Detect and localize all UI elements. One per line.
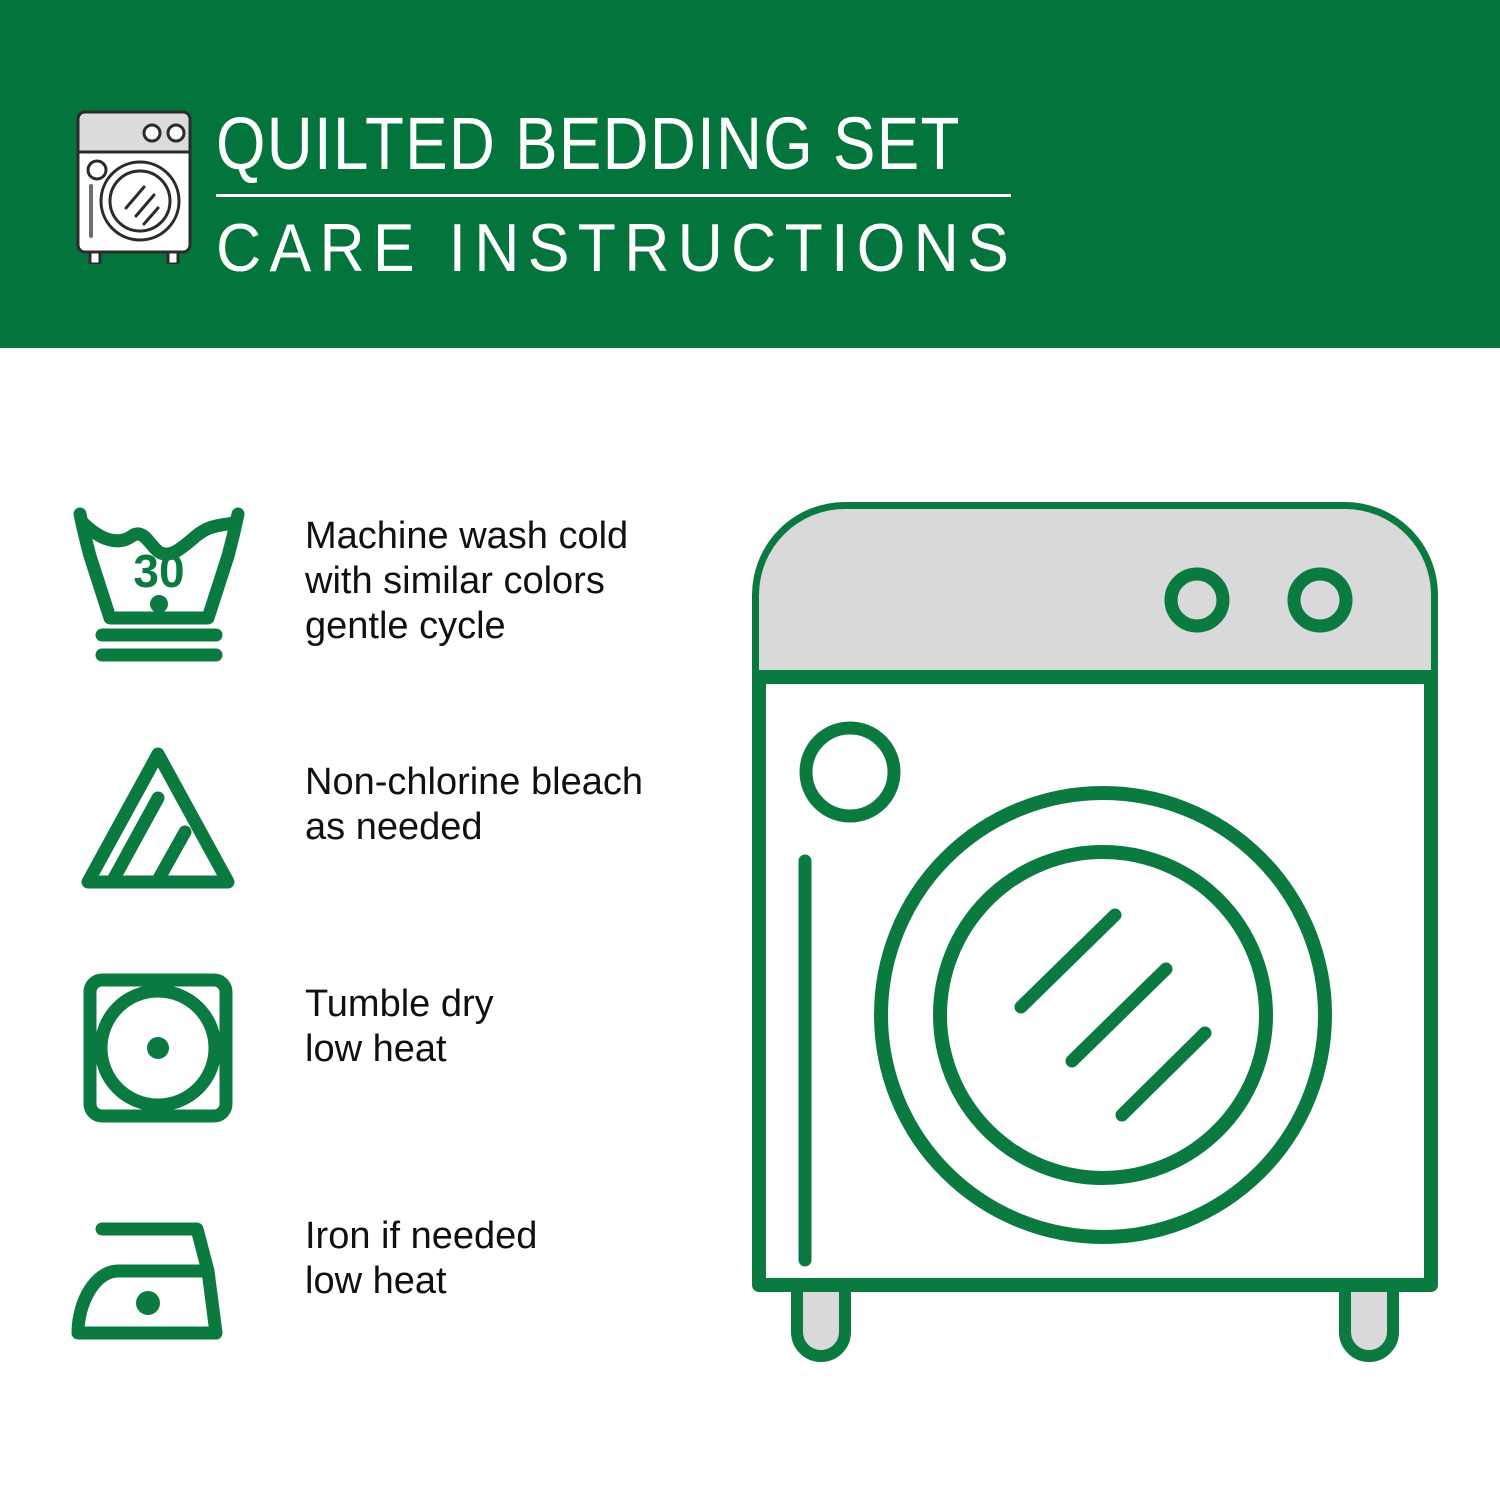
wash-temperature-label: 30 xyxy=(133,545,184,597)
care-text-wash: Machine wash cold with similar colors ge… xyxy=(305,514,628,649)
non-chlorine-bleach-triangle-icon xyxy=(68,740,253,905)
tumble-dry-low-icon xyxy=(78,968,238,1128)
machine-knob-right xyxy=(1294,574,1346,626)
care-instructions-page: QUILTED BEDDING SET CARE INSTRUCTIONS xyxy=(0,0,1500,1500)
page-subtitle: CARE INSTRUCTIONS xyxy=(216,211,952,285)
iron-low-heat-icon xyxy=(62,1215,252,1355)
care-instruction-list: 30 Machine wash cold with similar colors… xyxy=(0,500,720,1420)
care-text-tumble-dry: Tumble dry low heat xyxy=(305,982,494,1072)
page-title: QUILTED BEDDING SET xyxy=(216,104,904,184)
machine-indicator-light xyxy=(806,728,894,816)
header-title-group: QUILTED BEDDING SET CARE INSTRUCTIONS xyxy=(216,104,1016,285)
care-row-tumble-dry: Tumble dry low heat xyxy=(0,960,720,1190)
care-text-bleach: Non-chlorine bleach as needed xyxy=(305,760,643,850)
care-text-iron: Iron if needed low heat xyxy=(305,1214,537,1304)
machine-door-inner xyxy=(940,852,1266,1178)
machine-knob-left xyxy=(1171,574,1223,626)
washing-machine-icon xyxy=(64,104,214,264)
header-banner: QUILTED BEDDING SET CARE INSTRUCTIONS xyxy=(0,0,1500,348)
wash-tub-30-icon: 30 xyxy=(70,500,255,665)
care-row-wash: 30 Machine wash cold with similar colors… xyxy=(0,500,720,730)
care-row-bleach: Non-chlorine bleach as needed xyxy=(0,730,720,960)
front-load-washing-machine-illustration xyxy=(745,495,1445,1415)
care-row-iron: Iron if needed low heat xyxy=(0,1190,720,1420)
title-divider xyxy=(216,194,1011,197)
